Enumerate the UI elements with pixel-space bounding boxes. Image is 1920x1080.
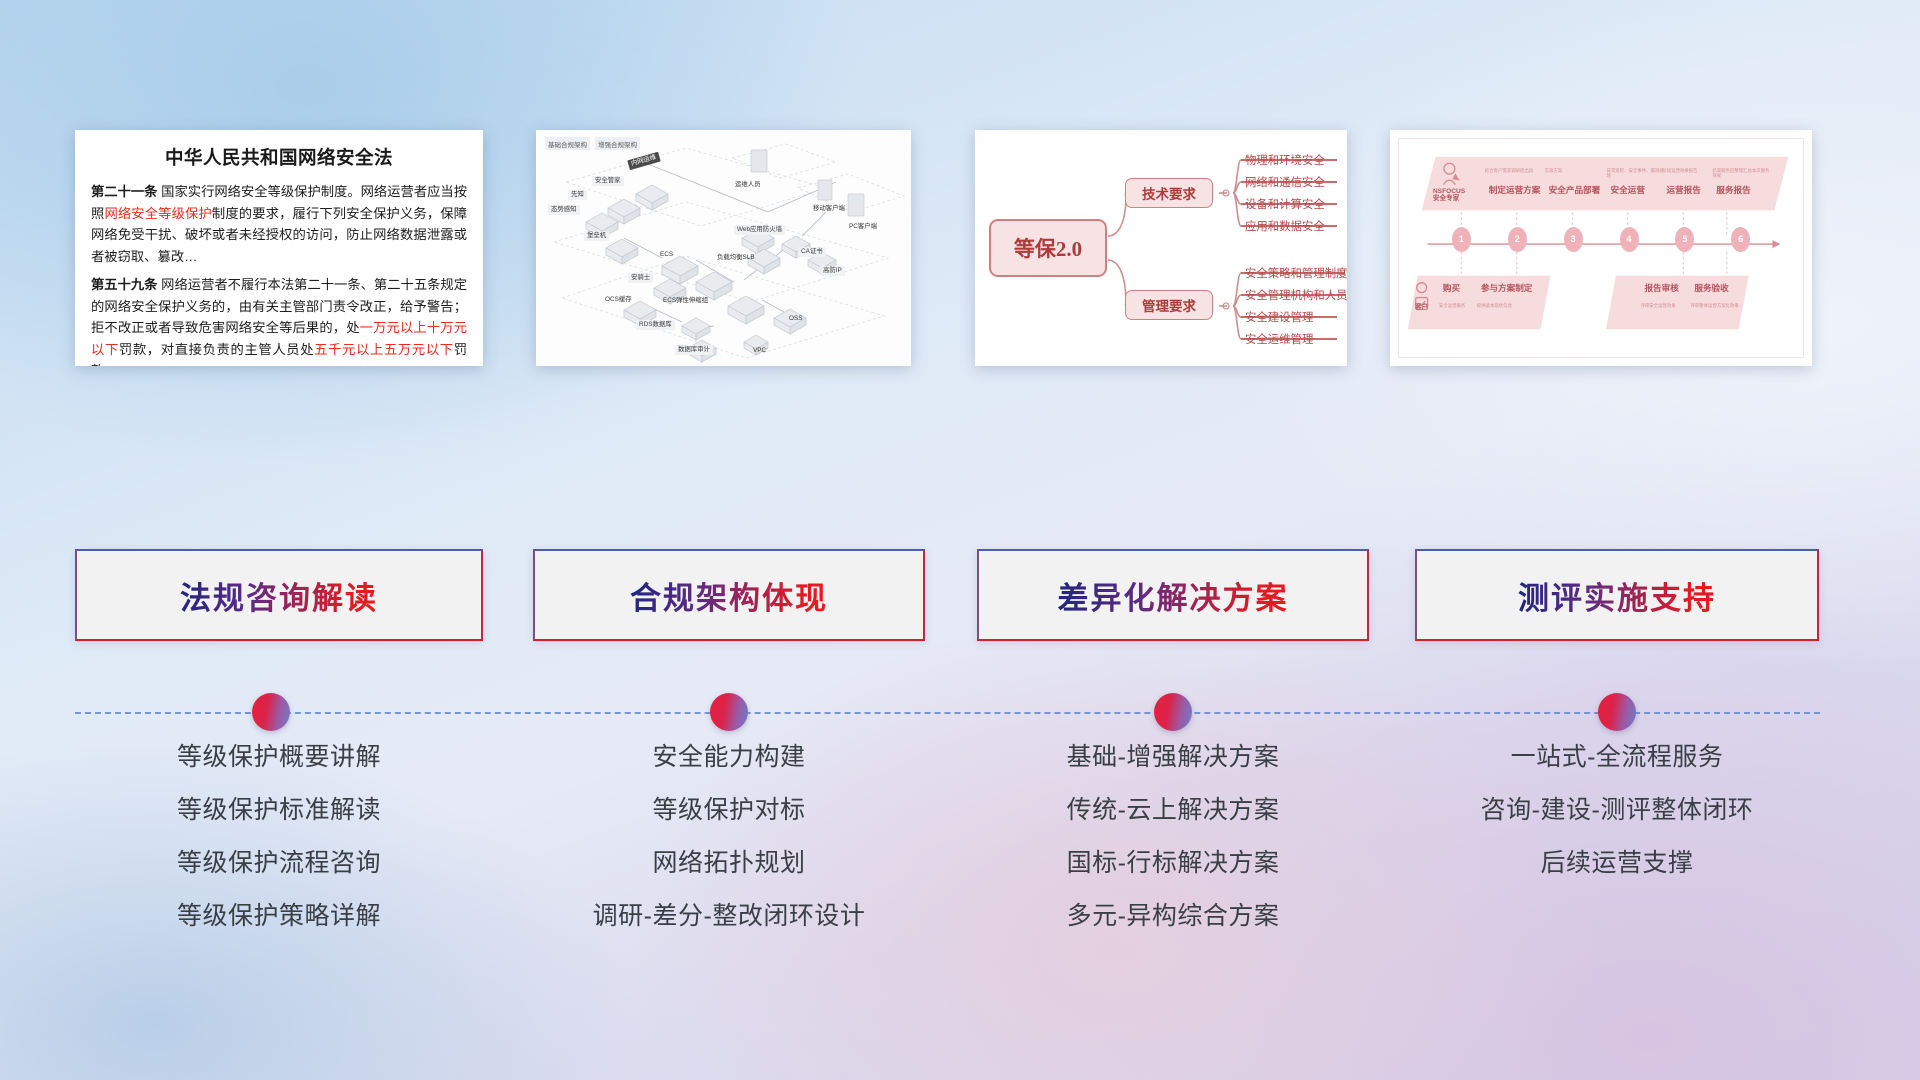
process-bottom-subtitle: 提供基本现状信息 bbox=[1477, 304, 1527, 309]
process-step-subtitle: 日常巡检、安全事件、漏洞处理 bbox=[1607, 169, 1665, 179]
architecture-node-label: 安全管家 bbox=[592, 176, 624, 186]
process-step-title: 制定运营方案 bbox=[1489, 186, 1541, 195]
timeline-dot-3[interactable] bbox=[1154, 693, 1192, 731]
section-heading-label-2: 合规架构体现 bbox=[630, 573, 828, 618]
process-bottom-subtitle: 评审整体运营方案化效果 bbox=[1690, 304, 1740, 309]
architecture-node-label: 安骑士 bbox=[628, 273, 653, 283]
law-highlight-text: 五千元以上五万元以下 bbox=[314, 342, 454, 357]
arch-tab-basic: 基础合规架构 bbox=[545, 137, 590, 150]
mindmap-leaf-label: 应用和数据安全 bbox=[1245, 218, 1325, 234]
section-heading-box-1[interactable]: 法规咨询解读 bbox=[75, 549, 483, 641]
process-step-subtitle: 实施方案 bbox=[1545, 169, 1603, 174]
timeline-dot-1[interactable] bbox=[252, 693, 290, 731]
detail-item: 基础-增强解决方案 bbox=[977, 745, 1369, 770]
architecture-node-label: 堡垒机 bbox=[584, 231, 609, 241]
cybersecurity-law-card: 中华人民共和国网络安全法 第二十一条 国家实行网络安全等级保护制度。网络运营者应… bbox=[75, 130, 483, 366]
process-step-number: 5 bbox=[1675, 227, 1694, 252]
process-step-title: 运营报告 bbox=[1666, 186, 1700, 195]
law-card-title: 中华人民共和国网络安全法 bbox=[91, 144, 467, 170]
law-body-text: 罚款，对直接负责的主管人员处 bbox=[119, 342, 314, 357]
detail-column-2: 安全能力构建等级保护对标网络拓扑规划调研-差分-整改闭环设计 bbox=[533, 745, 925, 957]
section-heading-box-4[interactable]: 测评实施支持 bbox=[1415, 549, 1819, 641]
law-paragraph-1: 第二十一条 国家实行网络安全等级保护制度。网络运营者应当按照网络安全等级保护制度… bbox=[91, 181, 467, 267]
architecture-tabs: 基础合规架构 增强合规架构 bbox=[545, 137, 640, 150]
law-article-number: 第五十九条 bbox=[91, 277, 157, 292]
detail-item: 咨询-建设-测评整体闭环 bbox=[1415, 798, 1819, 823]
detail-item: 后续运营支撑 bbox=[1415, 851, 1819, 876]
architecture-diagram-svg bbox=[536, 130, 911, 366]
detail-item: 等级保护标准解读 bbox=[75, 798, 483, 823]
architecture-node-label: ECS bbox=[657, 250, 676, 260]
mindmap-leaf-label: 网络和通信安全 bbox=[1245, 174, 1325, 190]
mindmap-branch-technical: 技术要求 bbox=[1125, 178, 1213, 208]
process-step-title: 安全运营 bbox=[1611, 186, 1645, 195]
architecture-node-label: 运维人员 bbox=[732, 180, 764, 190]
detail-item: 等级保护对标 bbox=[533, 798, 925, 823]
mindmap-leaf-label: 安全策略和管理制度 bbox=[1245, 265, 1347, 281]
timeline-dashed-line bbox=[75, 712, 1820, 714]
process-step-number: 4 bbox=[1620, 227, 1639, 252]
architecture-node-label: 先知 bbox=[568, 190, 587, 200]
process-step-title: 服务报告 bbox=[1716, 186, 1750, 195]
process-bottom-subtitle: 评审安全运营效果 bbox=[1640, 304, 1690, 309]
detail-column-3: 基础-增强解决方案传统-云上解决方案国标-行标解决方案多元-异构综合方案 bbox=[977, 745, 1369, 957]
architecture-node-label: ECS弹性伸缩组 bbox=[660, 296, 711, 306]
process-step-number: 2 bbox=[1508, 227, 1527, 252]
process-bottom-title: 参与方案制定 bbox=[1481, 284, 1533, 293]
mindmap-leaf-label: 安全建设管理 bbox=[1245, 309, 1313, 325]
process-step-subtitle: 结合客户需求调研后出具 bbox=[1485, 169, 1543, 174]
detail-item: 等级保护概要讲解 bbox=[75, 745, 483, 770]
detail-item: 网络拓扑规划 bbox=[533, 851, 925, 876]
detail-column-4: 一站式-全流程服务咨询-建设-测评整体闭环后续运营支撑 bbox=[1415, 745, 1819, 904]
architecture-node-label: 高防IP bbox=[820, 266, 845, 276]
section-heading-box-3[interactable]: 差异化解决方案 bbox=[977, 549, 1369, 641]
architecture-node-label: VPC bbox=[750, 346, 769, 356]
detail-item: 等级保护流程咨询 bbox=[75, 851, 483, 876]
mindmap-branch-management: 管理要求 bbox=[1125, 290, 1213, 320]
architecture-node-label: CA证书 bbox=[798, 247, 826, 257]
detail-item: 传统-云上解决方案 bbox=[977, 798, 1369, 823]
process-customer-role-label: 客户 bbox=[1415, 304, 1428, 311]
law-paragraph-2: 第五十九条 网络运营者不履行本法第二十一条、第二十五条规定的网络安全保护义务的，… bbox=[91, 274, 467, 366]
architecture-node-label: 移动客户端 bbox=[810, 204, 848, 214]
law-highlight-text: 网络安全等级保护 bbox=[104, 206, 211, 221]
nsfocus-process-card: NSFOCUS安全专家客户结合客户需求调研后出具制定运营方案实施方案安全产品部署… bbox=[1390, 130, 1812, 366]
section-heading-box-2[interactable]: 合规架构体现 bbox=[533, 549, 925, 641]
detail-item: 国标-行标解决方案 bbox=[977, 851, 1369, 876]
mindmap-leaf-label: 安全运维管理 bbox=[1245, 331, 1313, 347]
timeline-dot-2[interactable] bbox=[710, 693, 748, 731]
architecture-node-label: 态势感知 bbox=[548, 205, 580, 215]
arch-tab-enhanced: 增强合规架构 bbox=[595, 137, 640, 150]
process-step-subtitle: 结束服务后整理汇总本次服务效果 bbox=[1712, 169, 1770, 179]
architecture-node-label: OCS缓存 bbox=[602, 295, 635, 305]
timeline-dot-4[interactable] bbox=[1598, 693, 1636, 731]
mindmap-leaf-label: 安全管理机构和人员 bbox=[1245, 287, 1347, 303]
detail-column-1: 等级保护概要讲解等级保护标准解读等级保护流程咨询等级保护策略详解 bbox=[75, 745, 483, 957]
architecture-node-label: RDS数据库 bbox=[636, 320, 675, 330]
section-heading-label-4: 测评实施支持 bbox=[1518, 573, 1716, 618]
process-bottom-title: 购买 bbox=[1443, 284, 1460, 293]
architecture-node-label: 负载均衡SLB bbox=[714, 253, 758, 263]
architecture-node-label: 数据库审计 bbox=[675, 345, 713, 355]
cloud-architecture-card: 基础合规架构 增强合规架构 bbox=[536, 130, 911, 366]
section-heading-label-3: 差异化解决方案 bbox=[1058, 573, 1289, 618]
process-bottom-title: 服务验收 bbox=[1694, 284, 1728, 293]
detail-item: 安全能力构建 bbox=[533, 745, 925, 770]
detail-item: 调研-差分-整改闭环设计 bbox=[533, 904, 925, 929]
dengbao-mindmap-card: 等保2.0 技术要求 管理要求 物理和环境安全网络和通信安全设备和计算安全应用和… bbox=[975, 130, 1347, 366]
process-step-title: 安全产品部署 bbox=[1549, 186, 1601, 195]
process-step-number: 3 bbox=[1564, 227, 1583, 252]
law-article-number: 第二十一条 bbox=[91, 184, 157, 199]
detail-item: 一站式-全流程服务 bbox=[1415, 745, 1819, 770]
architecture-node-label: PC客户端 bbox=[846, 222, 880, 232]
detail-item: 等级保护策略详解 bbox=[75, 904, 483, 929]
section-heading-row: 法规咨询解读 合规架构体现 差异化解决方案 测评实施支持 bbox=[0, 549, 1920, 641]
process-step-number: 1 bbox=[1452, 227, 1471, 252]
mindmap-root-node: 等保2.0 bbox=[989, 219, 1107, 277]
process-bottom-title: 报告审核 bbox=[1644, 284, 1678, 293]
mindmap-leaf-label: 物理和环境安全 bbox=[1245, 152, 1325, 168]
timeline-connector bbox=[0, 693, 1920, 733]
architecture-node-label: OSS bbox=[786, 314, 806, 324]
process-expert-role-label: 安全专家 bbox=[1433, 195, 1459, 202]
detail-item: 多元-异构综合方案 bbox=[977, 904, 1369, 929]
architecture-node-label: Web应用防火墙 bbox=[734, 225, 785, 235]
image-card-row: 中华人民共和国网络安全法 第二十一条 国家实行网络安全等级保护制度。网络运营者应… bbox=[0, 130, 1920, 366]
section-heading-label-1: 法规咨询解读 bbox=[180, 573, 378, 618]
mindmap-leaf-label: 设备和计算安全 bbox=[1245, 196, 1325, 212]
process-step-number: 6 bbox=[1731, 227, 1750, 252]
